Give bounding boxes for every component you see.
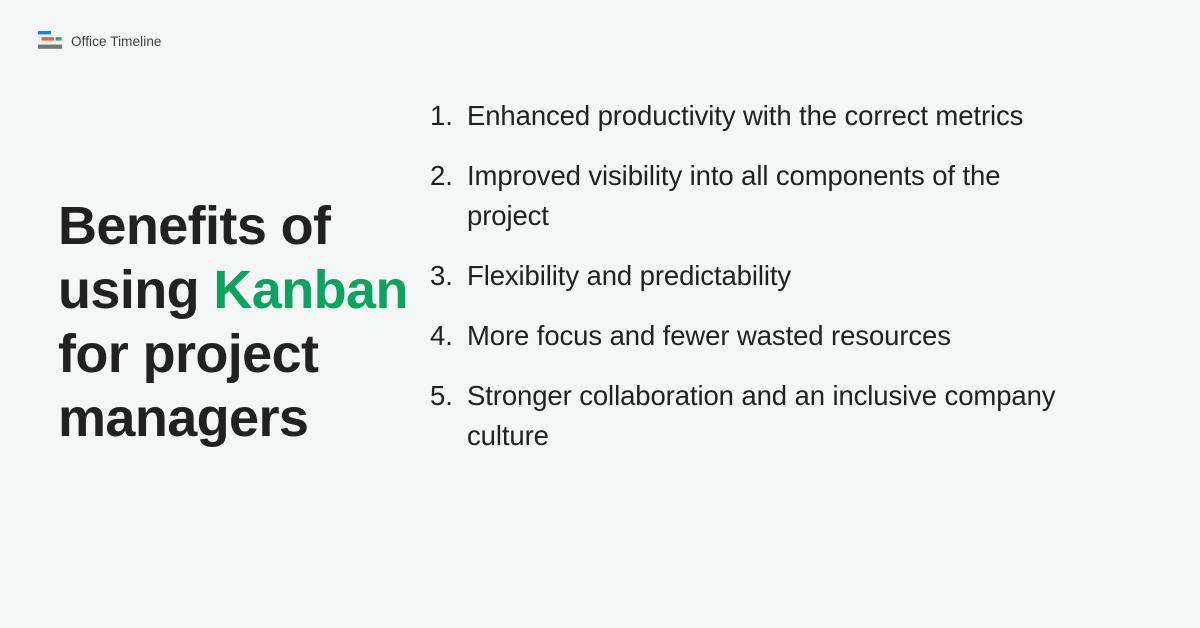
gantt-chart-logo-icon xyxy=(38,31,62,53)
page-title: Benefits of using Kanban for project man… xyxy=(58,194,408,450)
list-item-text: Flexibility and predictability xyxy=(467,256,1070,296)
list-item-marker: 1. xyxy=(430,96,467,136)
headline-accent-kanban: Kanban xyxy=(213,260,407,320)
list-item-marker: 2. xyxy=(430,156,467,196)
benefits-column: 1. Enhanced productivity with the correc… xyxy=(430,92,1200,456)
benefits-list: 1. Enhanced productivity with the correc… xyxy=(430,96,1070,456)
list-item-text: More focus and fewer wasted resources xyxy=(467,316,1070,356)
list-item-marker: 3. xyxy=(430,256,467,296)
headline-line-2-prefix: using xyxy=(58,260,213,320)
brand-name: Office Timeline xyxy=(71,35,162,49)
list-item-text: Improved visibility into all components … xyxy=(467,156,1070,236)
list-item-marker: 4. xyxy=(430,316,467,356)
list-item: 1. Enhanced productivity with the correc… xyxy=(430,96,1070,136)
list-item: 3. Flexibility and predictability xyxy=(430,256,1070,296)
list-item-text: Enhanced productivity with the correct m… xyxy=(467,96,1070,136)
headline-line-3: for project xyxy=(58,324,318,384)
list-item: 5. Stronger collaboration and an inclusi… xyxy=(430,376,1070,456)
headline-line-4: managers xyxy=(58,388,308,448)
main-content: Benefits of using Kanban for project man… xyxy=(0,92,1200,592)
list-item-marker: 5. xyxy=(430,376,467,416)
list-item: 2. Improved visibility into all componen… xyxy=(430,156,1070,236)
headline-column: Benefits of using Kanban for project man… xyxy=(0,92,430,552)
list-item: 4. More focus and fewer wasted resources xyxy=(430,316,1070,356)
headline-line-1: Benefits of xyxy=(58,196,330,256)
brand-header: Office Timeline xyxy=(38,31,162,53)
list-item-text: Stronger collaboration and an inclusive … xyxy=(467,376,1070,456)
